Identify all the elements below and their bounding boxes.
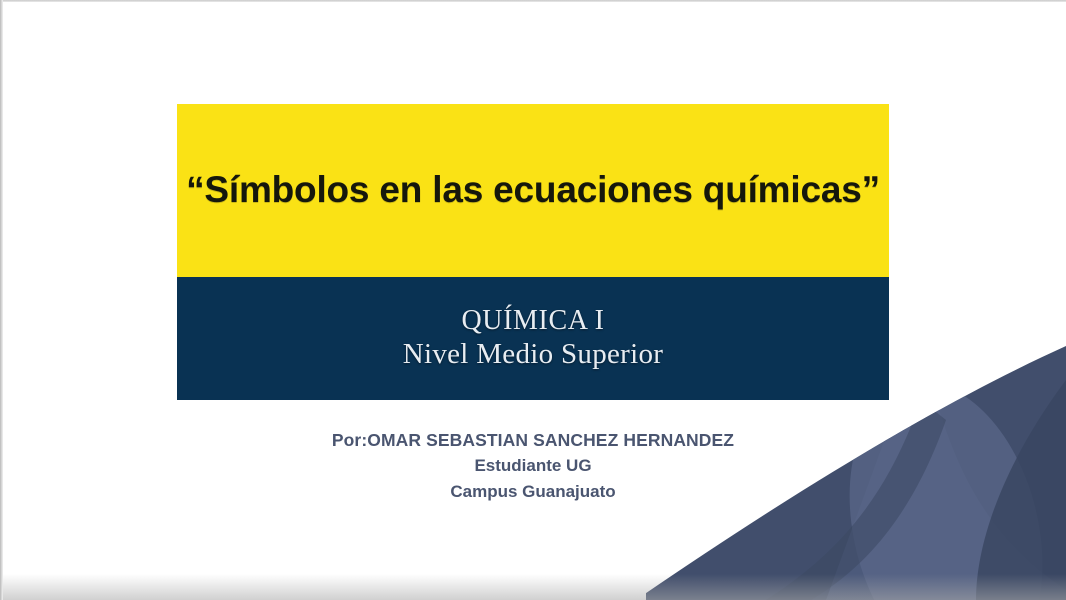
education-level: Nivel Medio Superior [403,337,664,372]
author-block: Por:OMAR SEBASTIAN SANCHEZ HERNANDEZ Est… [177,428,889,504]
presentation-slide: “Símbolos en las ecuaciones químicas” QU… [0,0,1066,600]
frame-edge-top [0,0,1066,2]
subtitle-band: QUÍMICA I Nivel Medio Superior [177,277,889,400]
author-role: Estudiante UG [177,453,889,479]
title-band: “Símbolos en las ecuaciones químicas” [177,104,889,277]
frame-edge-left [0,0,3,600]
author-campus: Campus Guanajuato [177,479,889,505]
slide-title: “Símbolos en las ecuaciones químicas” [186,170,880,211]
course-name: QUÍMICA I [461,305,604,337]
author-name: Por:OMAR SEBASTIAN SANCHEZ HERNANDEZ [177,428,889,453]
